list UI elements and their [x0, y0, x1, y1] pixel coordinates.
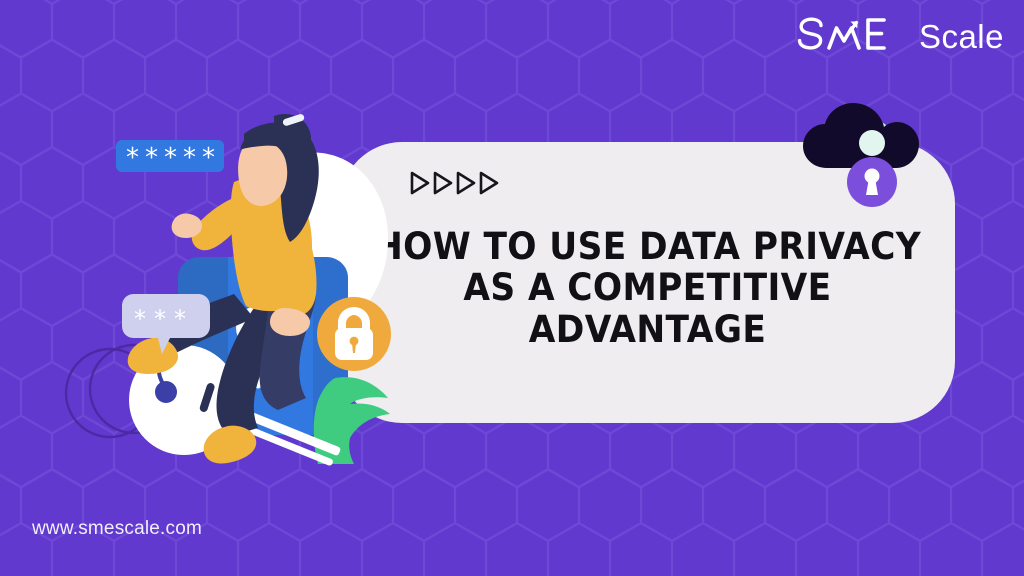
- svg-text:*: *: [164, 143, 177, 173]
- logo-wordmark: Scale: [919, 20, 1004, 53]
- growth-arrow-icon: [796, 16, 908, 56]
- banner-root: Scale: [0, 0, 1024, 576]
- svg-text:*: *: [126, 143, 139, 173]
- cloud-security-graphic: [795, 96, 930, 211]
- keyhole-icon: [847, 157, 897, 207]
- svg-text:*: *: [174, 305, 186, 333]
- logo-mark-sme: [796, 16, 908, 56]
- svg-text:*: *: [202, 143, 215, 173]
- cloud-icon: [803, 103, 919, 168]
- svg-text:*: *: [134, 305, 146, 333]
- padlock-badge: [317, 297, 391, 371]
- page-title: HOW TO USE DATA PRIVACY AS A COMPETITIVE…: [362, 226, 934, 350]
- svg-text:*: *: [145, 143, 158, 173]
- svg-text:*: *: [154, 305, 166, 333]
- shackle-highlight: [859, 130, 885, 156]
- password-field: * * * * *: [116, 140, 224, 173]
- triangle-right-icon: [455, 170, 477, 196]
- svg-text:*: *: [183, 143, 196, 173]
- asterisk-icon: * * *: [134, 305, 186, 333]
- triangle-right-icon: [478, 170, 500, 196]
- triangle-right-icon: [432, 170, 454, 196]
- data-privacy-illustration: * * * * * * * *: [58, 98, 428, 468]
- logo[interactable]: Scale: [796, 14, 1004, 58]
- site-url[interactable]: www.smescale.com: [32, 518, 202, 540]
